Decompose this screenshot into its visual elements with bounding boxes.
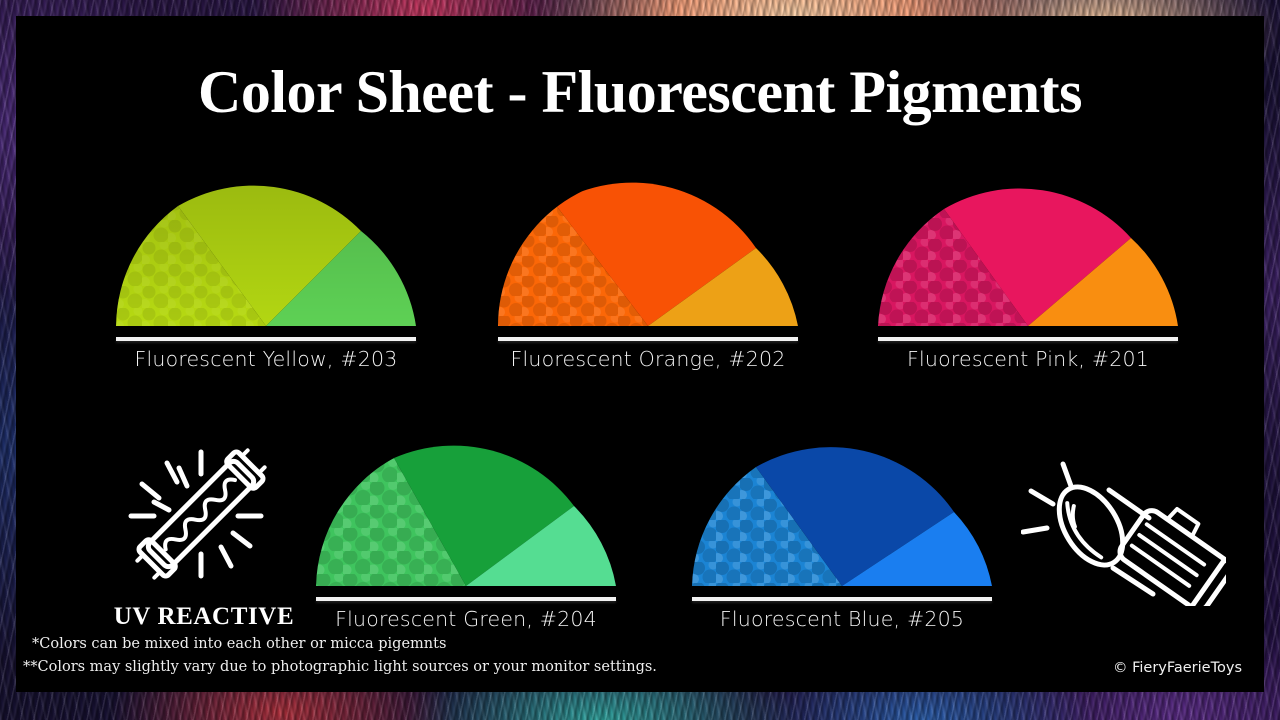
dome-svg-orange bbox=[498, 176, 798, 328]
footnotes: *Colors can be mixed into each other or … bbox=[32, 633, 657, 678]
swatch-fluorescent-blue[interactable]: Fluorescent Blue, #205 bbox=[692, 436, 992, 631]
dome-svg-blue bbox=[692, 436, 992, 588]
flashlight-icon bbox=[1021, 456, 1226, 606]
swatch-underline-green bbox=[316, 597, 616, 601]
content-panel: Color Sheet - Fluorescent Pigments bbox=[16, 16, 1264, 692]
swatch-underline-blue bbox=[692, 597, 992, 601]
flashlight-badge bbox=[1016, 456, 1231, 611]
footnote-line-2: **Colors may slightly vary due to photog… bbox=[23, 656, 657, 678]
color-sheet-graphic: Color Sheet - Fluorescent Pigments bbox=[0, 0, 1280, 720]
swatch-fluorescent-pink[interactable]: Fluorescent Pink, #201 bbox=[878, 176, 1178, 371]
dome-blue bbox=[692, 436, 992, 588]
swatch-label-yellow: Fluorescent Yellow, #203 bbox=[116, 347, 416, 371]
copyright-credit: © FieryFaerieToys bbox=[1113, 660, 1242, 676]
uv-lamp-icon bbox=[109, 446, 299, 596]
dome-svg-yellow bbox=[116, 176, 416, 328]
swatch-underline-pink bbox=[878, 337, 1178, 341]
swatch-label-green: Fluorescent Green, #204 bbox=[316, 607, 616, 631]
dome-pink bbox=[878, 176, 1178, 328]
footnote-line-1: *Colors can be mixed into each other or … bbox=[32, 633, 657, 655]
uv-reactive-badge: UV REACTIVE bbox=[104, 446, 304, 631]
swatch-row-top: Fluorescent Yellow, #203 bbox=[16, 176, 1264, 391]
swatch-label-pink: Fluorescent Pink, #201 bbox=[878, 347, 1178, 371]
swatch-fluorescent-green[interactable]: Fluorescent Green, #204 bbox=[316, 436, 616, 631]
dome-svg-green bbox=[316, 436, 616, 588]
dome-orange bbox=[498, 176, 798, 328]
uv-reactive-label: UV REACTIVE bbox=[104, 603, 304, 631]
swatch-underline-orange bbox=[498, 337, 798, 341]
swatch-label-orange: Fluorescent Orange, #202 bbox=[498, 347, 798, 371]
swatch-label-blue: Fluorescent Blue, #205 bbox=[692, 607, 992, 631]
dome-green bbox=[316, 436, 616, 588]
swatch-fluorescent-yellow[interactable]: Fluorescent Yellow, #203 bbox=[116, 176, 416, 371]
dome-svg-pink bbox=[878, 176, 1178, 328]
swatch-underline-yellow bbox=[116, 337, 416, 341]
page-title: Color Sheet - Fluorescent Pigments bbox=[16, 58, 1264, 127]
swatch-fluorescent-orange[interactable]: Fluorescent Orange, #202 bbox=[498, 176, 798, 371]
dome-yellow bbox=[116, 176, 416, 328]
